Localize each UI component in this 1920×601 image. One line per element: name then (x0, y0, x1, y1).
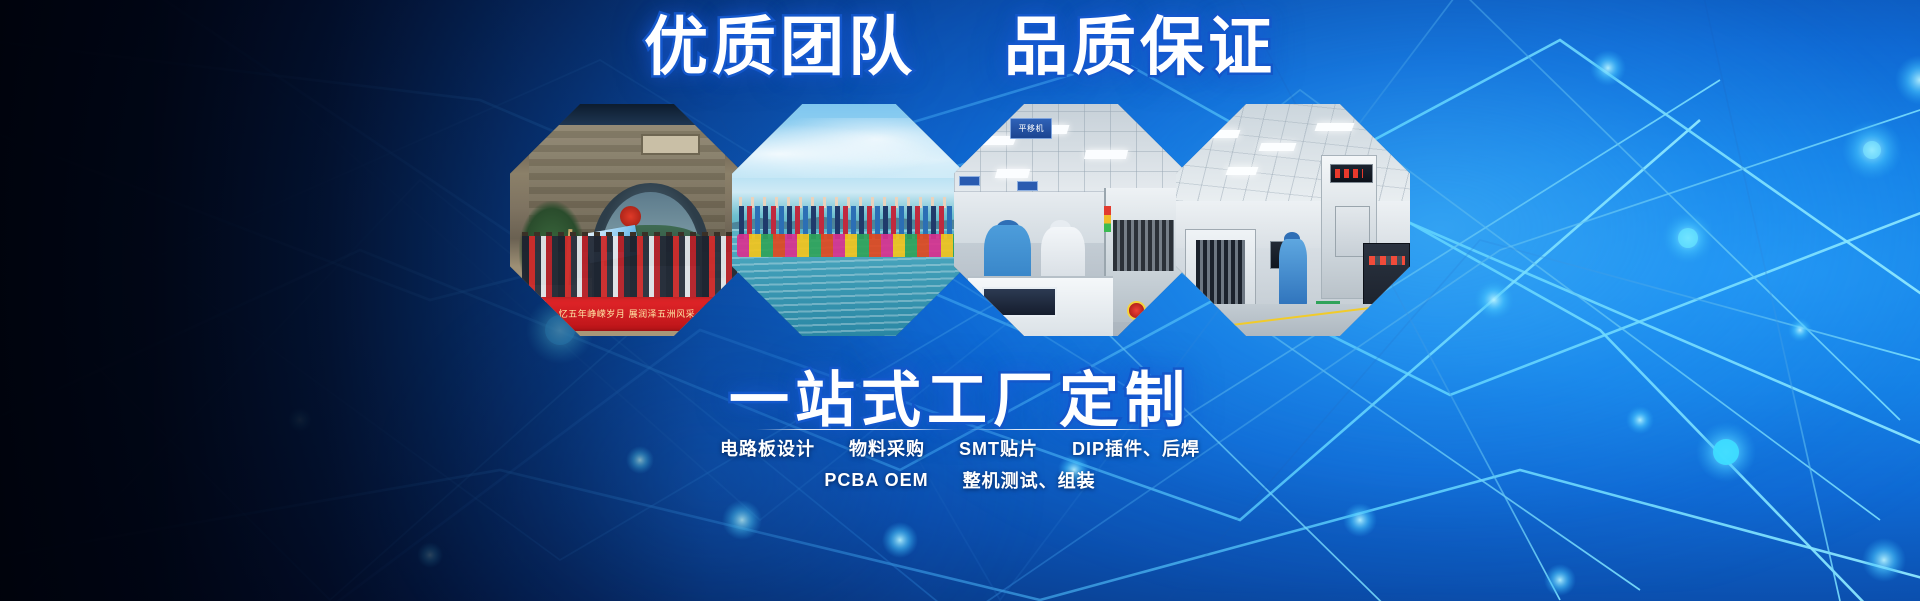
ceiling-light (995, 169, 1030, 178)
photo-clean-room-testing (1176, 104, 1410, 336)
emergency-stop-button (1127, 301, 1146, 320)
ceiling-light (1198, 130, 1241, 138)
photo-1-scene: 忆五年峥嵘岁月 展润泽五洲风采 (510, 104, 744, 336)
divider-segment (756, 429, 954, 430)
photo-team-outing-stone-gate: 忆五年峥嵘岁月 展润泽五洲风采 (510, 104, 744, 336)
photo-4-scene (1176, 104, 1410, 336)
floor (1176, 304, 1410, 336)
ceiling-light (1084, 150, 1128, 159)
control-cabinet (1363, 243, 1410, 331)
promo-banner: 优质团队 品质保证 忆五年峥嵘岁月 展润泽五洲风采 (0, 0, 1920, 601)
group-photo-crowd (522, 236, 737, 306)
red-banner-text: 忆五年峥嵘岁月 展润泽五洲风采 (515, 297, 740, 332)
photo-2-scene (732, 104, 966, 336)
machine-control-button (1155, 301, 1174, 320)
indicator-strip (1369, 256, 1405, 265)
photo-row: 忆五年峥嵘岁月 展润泽五洲风采 平移机 (460, 104, 1460, 336)
ceiling-light (1315, 123, 1355, 131)
andon-tower-light (1104, 206, 1111, 232)
title-divider (750, 428, 1170, 430)
clouds (732, 118, 966, 178)
ceiling-grid (954, 104, 1188, 192)
red-lantern (620, 206, 641, 227)
station-sign-small (1017, 181, 1038, 191)
divider-segment (966, 429, 1164, 430)
station-sign: 平移机 (1010, 118, 1052, 139)
photo-3-scene: 平移机 (954, 104, 1188, 336)
worker-blue-coat (1279, 239, 1307, 309)
station-sign-small (959, 176, 980, 186)
display-segments (1335, 169, 1363, 177)
kayak-boats (737, 234, 962, 257)
ceiling-light (966, 136, 1017, 145)
ceiling-light (1259, 143, 1297, 151)
ceiling-light (1226, 167, 1259, 175)
gate-plaque (641, 134, 700, 155)
inspection-panel (982, 287, 1057, 317)
photo-kayak-team-building (732, 104, 966, 336)
photo-smt-production-line: 平移机 (954, 104, 1188, 336)
floor-safety-line (1223, 305, 1386, 327)
chamber-display (1330, 164, 1372, 183)
component-feeders (1113, 220, 1174, 271)
